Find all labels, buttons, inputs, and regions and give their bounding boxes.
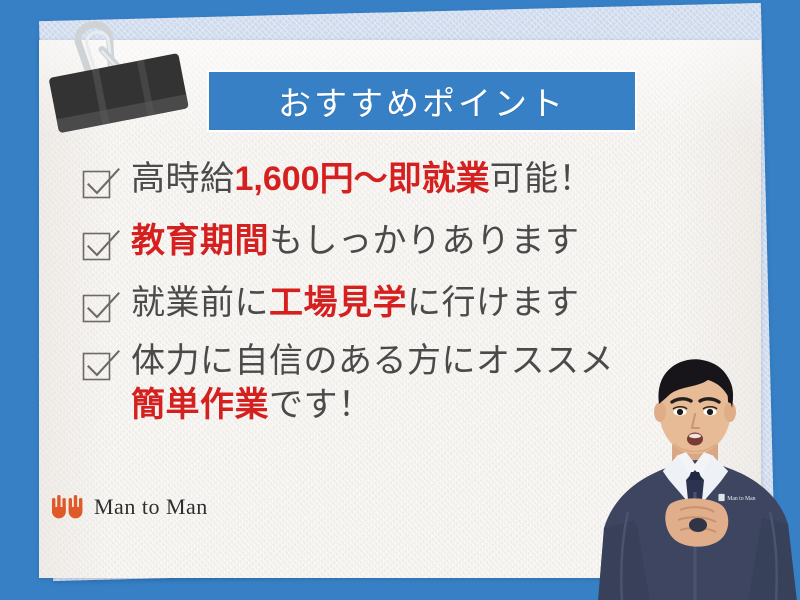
bullet-line: 就業前に工場見学に行けます xyxy=(131,282,741,326)
checkbox-check-icon xyxy=(81,288,121,328)
list-item: 体力に自信のある方にオススメ 簡単作業です！ xyxy=(81,340,741,427)
checkbox-check-icon xyxy=(81,226,121,266)
bullet-line: 体力に自信のある方にオススメ xyxy=(131,340,741,384)
bullet-segment: に行けます xyxy=(407,284,580,322)
brand-logo: Man to Man xyxy=(51,492,208,522)
bullet-segment: 可能！ xyxy=(490,160,594,198)
bullet-segment: 就業前に xyxy=(131,284,269,322)
bullet-segment-emphasis: 簡単作業 xyxy=(131,386,269,424)
logo-wordmark: Man to Man xyxy=(94,494,208,520)
flyer-canvas: おすすめポイント 高時給1,600円〜即就業可能！ xyxy=(0,0,800,600)
list-item: 教育期間もしっかりあります xyxy=(81,220,741,266)
points-list: 高時給1,600円〜即就業可能！ 教育期間もしっかりあります xyxy=(81,158,741,443)
checkbox-check-icon xyxy=(81,164,121,204)
flyer-content: おすすめポイント 高時給1,600円〜即就業可能！ xyxy=(39,40,761,578)
list-item-text: 就業前に工場見学に行けます xyxy=(131,282,741,326)
man-to-man-hands-icon xyxy=(51,492,85,522)
bullet-segment-emphasis: 教育期間 xyxy=(131,222,269,260)
bullet-segment-emphasis: 1,600円〜即就業 xyxy=(235,160,490,198)
bullet-line: 高時給1,600円〜即就業可能！ xyxy=(131,158,741,202)
bullet-line: 教育期間もしっかりあります xyxy=(131,220,741,264)
list-item-text: 高時給1,600円〜即就業可能！ xyxy=(131,158,741,202)
list-item-text: 教育期間もしっかりあります xyxy=(131,220,741,264)
bullet-segment: です！ xyxy=(269,386,373,424)
list-item: 就業前に工場見学に行けます xyxy=(81,282,741,328)
list-item: 高時給1,600円〜即就業可能！ xyxy=(81,158,741,204)
recommended-points-banner: おすすめポイント xyxy=(207,70,637,132)
bullet-segment-emphasis: 工場見学 xyxy=(269,284,407,322)
bullet-line: 簡単作業です！ xyxy=(131,384,741,428)
bullet-segment: もしっかりあります xyxy=(269,222,580,260)
bullet-segment: 体力に自信のある方にオススメ xyxy=(131,342,614,380)
banner-title: おすすめポイント xyxy=(278,77,566,125)
checkbox-check-icon xyxy=(81,346,121,386)
list-item-text: 体力に自信のある方にオススメ 簡単作業です！ xyxy=(131,340,741,427)
bullet-segment: 高時給 xyxy=(131,160,235,198)
